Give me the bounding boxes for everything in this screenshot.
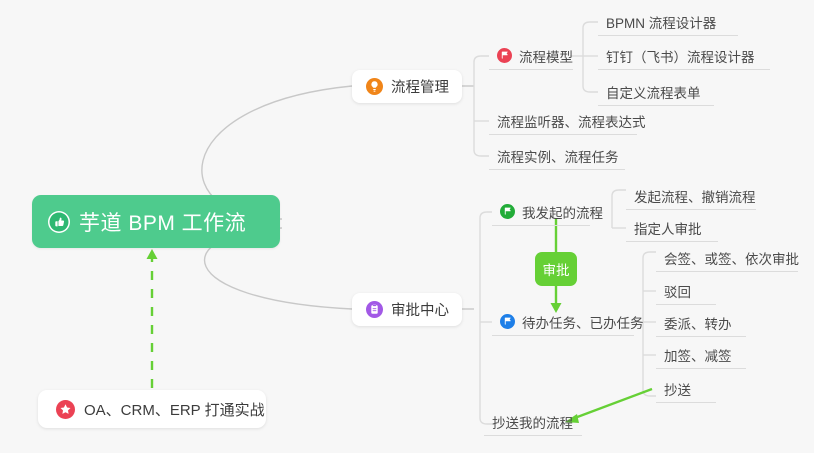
node-my-initiated-process[interactable]: 我发起的流程 [492, 198, 590, 226]
root-label: 芋道 BPM 工作流 [79, 207, 246, 237]
flag-icon [500, 204, 515, 219]
node-label: 加签、减签 [664, 345, 732, 365]
node-label: OA、CRM、ERP 打通实战 [84, 399, 265, 420]
node-label: 流程管理 [391, 76, 449, 97]
connector-mine-to-start [612, 190, 626, 196]
approval-badge[interactable]: 审批 [535, 252, 577, 286]
clipboard-icon [366, 301, 383, 318]
connector-todo-to-sign [643, 252, 656, 258]
node-process-model[interactable]: 流程模型 [489, 42, 573, 70]
approval-badge-label: 审批 [543, 259, 570, 279]
thumbs-up-icon [48, 211, 70, 233]
node-countersign[interactable]: 会签、或签、依次审批 [656, 244, 798, 272]
annotation-arrow-cc-to-ccmine [572, 389, 652, 419]
node-label: 发起流程、撤销流程 [634, 186, 756, 206]
node-approval-center[interactable]: 审批中心 [352, 293, 462, 326]
node-instance-task[interactable]: 流程实例、流程任务 [489, 142, 625, 170]
node-bpmn-designer[interactable]: BPMN 流程设计器 [598, 8, 738, 36]
node-todo-done-task[interactable]: 待办任务、已办任务 [492, 308, 634, 336]
connector-pm-to-instance [474, 150, 489, 156]
node-label: 驳回 [664, 281, 691, 301]
node-label: 抄送 [664, 379, 691, 399]
node-label: 会签、或签、依次审批 [664, 248, 799, 268]
node-carbon-copy[interactable]: 抄送 [656, 375, 716, 403]
node-listener-expression[interactable]: 流程监听器、流程表达式 [489, 107, 637, 135]
connector-todo-to-cc [643, 390, 656, 396]
node-label: BPMN 流程设计器 [606, 12, 716, 32]
root-node[interactable]: 芋道 BPM 工作流 [32, 195, 280, 248]
node-assignee-approval[interactable]: 指定人审批 [626, 214, 718, 242]
connector-pm-to-model [474, 56, 489, 62]
node-add-remove-sign[interactable]: 加签、减签 [656, 341, 746, 369]
flag-icon [500, 314, 515, 329]
node-cc-my-process[interactable]: 抄送我的流程 [484, 408, 582, 436]
node-label: 审批中心 [391, 299, 449, 320]
node-label: 自定义流程表单 [606, 82, 701, 102]
connector-model-to-form [583, 86, 598, 92]
annotation-arrowhead-up [147, 249, 158, 259]
node-integration-note[interactable]: OA、CRM、ERP 打通实战 [38, 390, 266, 428]
node-label: 流程监听器、流程表达式 [497, 111, 646, 131]
connector-model-to-bpmn [583, 22, 598, 28]
node-reject[interactable]: 驳回 [656, 277, 716, 305]
node-label: 流程模型 [519, 46, 573, 66]
node-process-management[interactable]: 流程管理 [352, 70, 462, 103]
node-label: 我发起的流程 [522, 202, 603, 222]
node-label: 待办任务、已办任务 [522, 312, 644, 332]
node-label: 流程实例、流程任务 [497, 146, 619, 166]
node-label: 指定人审批 [634, 218, 702, 238]
node-delegate-transfer[interactable]: 委派、转办 [656, 309, 746, 337]
lightbulb-icon [366, 78, 383, 95]
node-label: 委派、转办 [664, 313, 732, 333]
node-dingtalk-designer[interactable]: 钉钉（飞书）流程设计器 [598, 42, 770, 70]
star-icon [56, 400, 75, 419]
connector-ac-to-mine [480, 212, 492, 218]
flag-icon [497, 48, 512, 63]
node-label: 抄送我的流程 [492, 412, 573, 432]
node-start-cancel-process[interactable]: 发起流程、撤销流程 [626, 182, 756, 210]
mindmap-canvas: 芋道 BPM 工作流 流程管理 流程模型 BPMN 流程设计器 钉钉（飞书）流程… [0, 0, 814, 453]
node-custom-form[interactable]: 自定义流程表单 [598, 78, 714, 106]
node-label: 钉钉（飞书）流程设计器 [606, 46, 755, 66]
